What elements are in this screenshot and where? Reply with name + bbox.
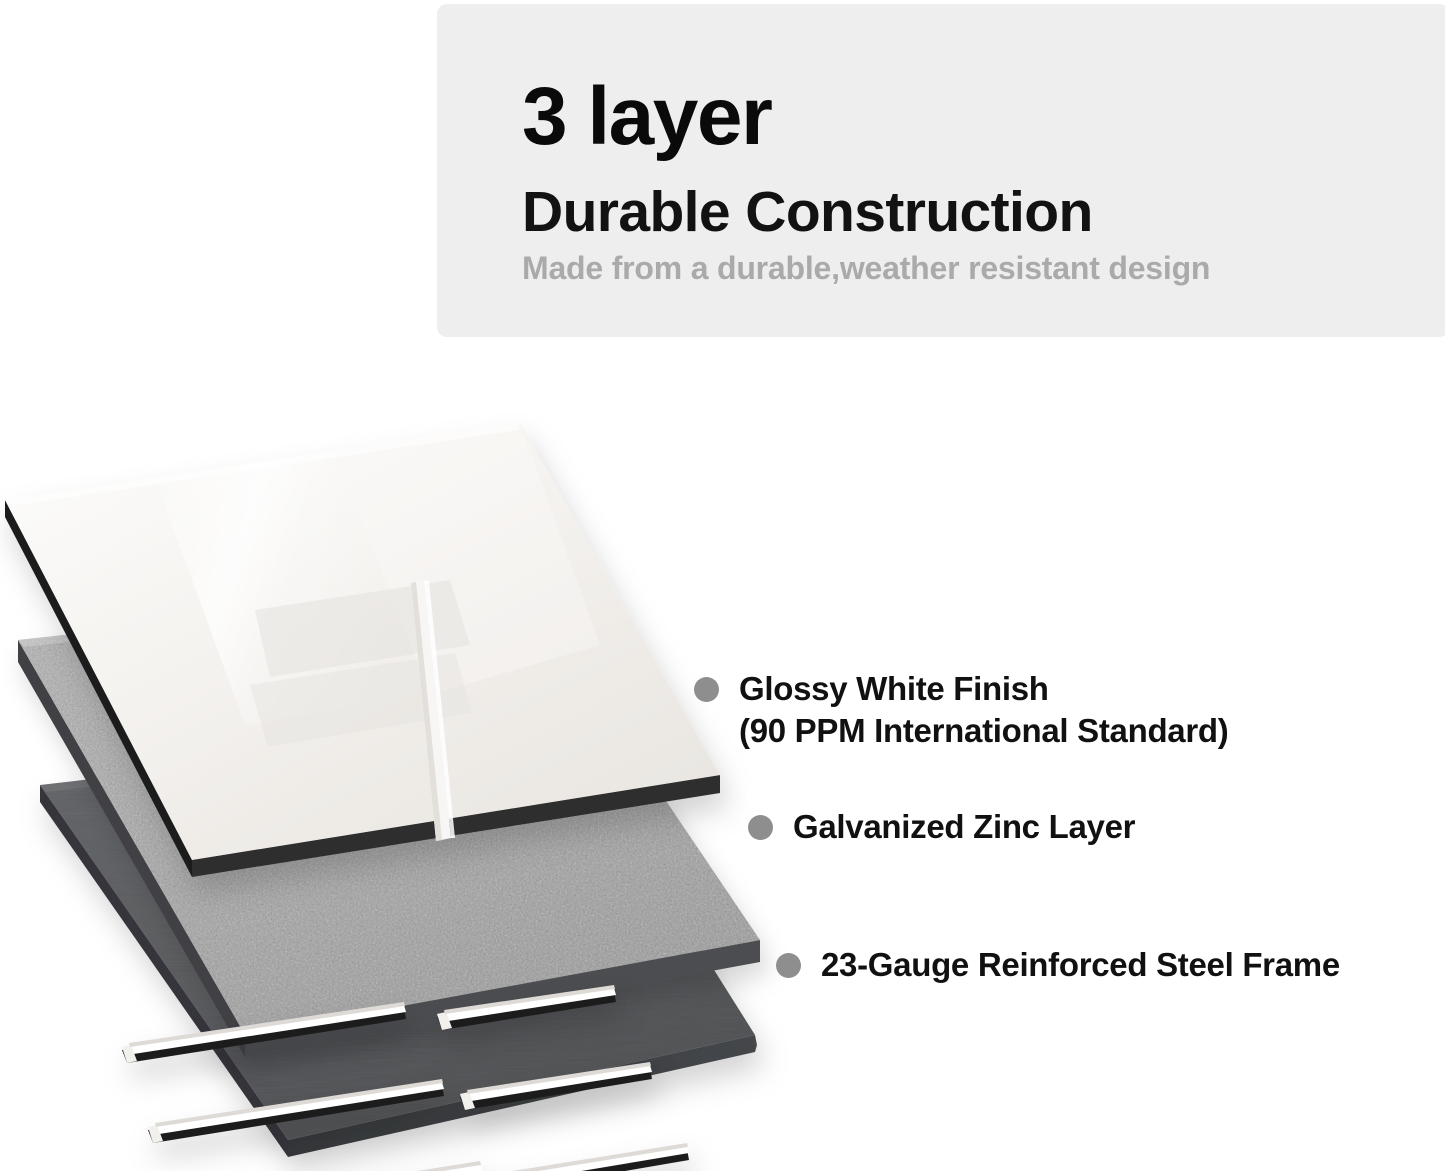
callout-text-glossy-white-finish: Glossy White Finish(90 PPM International…: [739, 668, 1228, 752]
bullet-dot-icon: [776, 953, 801, 978]
callout-line-1: Glossy White Finish: [739, 670, 1049, 707]
header-panel: 3 layer Durable Construction Made from a…: [437, 4, 1445, 337]
bullet-dot-icon: [748, 815, 773, 840]
callout-line-2: (90 PPM International Standard): [739, 712, 1228, 749]
page-subtitle: Durable Construction: [522, 184, 1093, 241]
callout-text-reinforced-steel-frame: 23-Gauge Reinforced Steel Frame: [821, 944, 1340, 986]
page-tagline: Made from a durable,weather resistant de…: [522, 252, 1210, 284]
callout-text-galvanized-zinc-layer: Galvanized Zinc Layer: [793, 806, 1135, 848]
page-title: 3 layer: [522, 76, 771, 158]
callout-item-glossy-white-finish: Glossy White Finish(90 PPM International…: [694, 668, 1228, 752]
callout-item-reinforced-steel-frame: 23-Gauge Reinforced Steel Frame: [776, 944, 1340, 986]
callout-item-galvanized-zinc-layer: Galvanized Zinc Layer: [748, 806, 1135, 848]
exploded-layers-illustration: [0, 395, 800, 1171]
bullet-dot-icon: [694, 677, 719, 702]
